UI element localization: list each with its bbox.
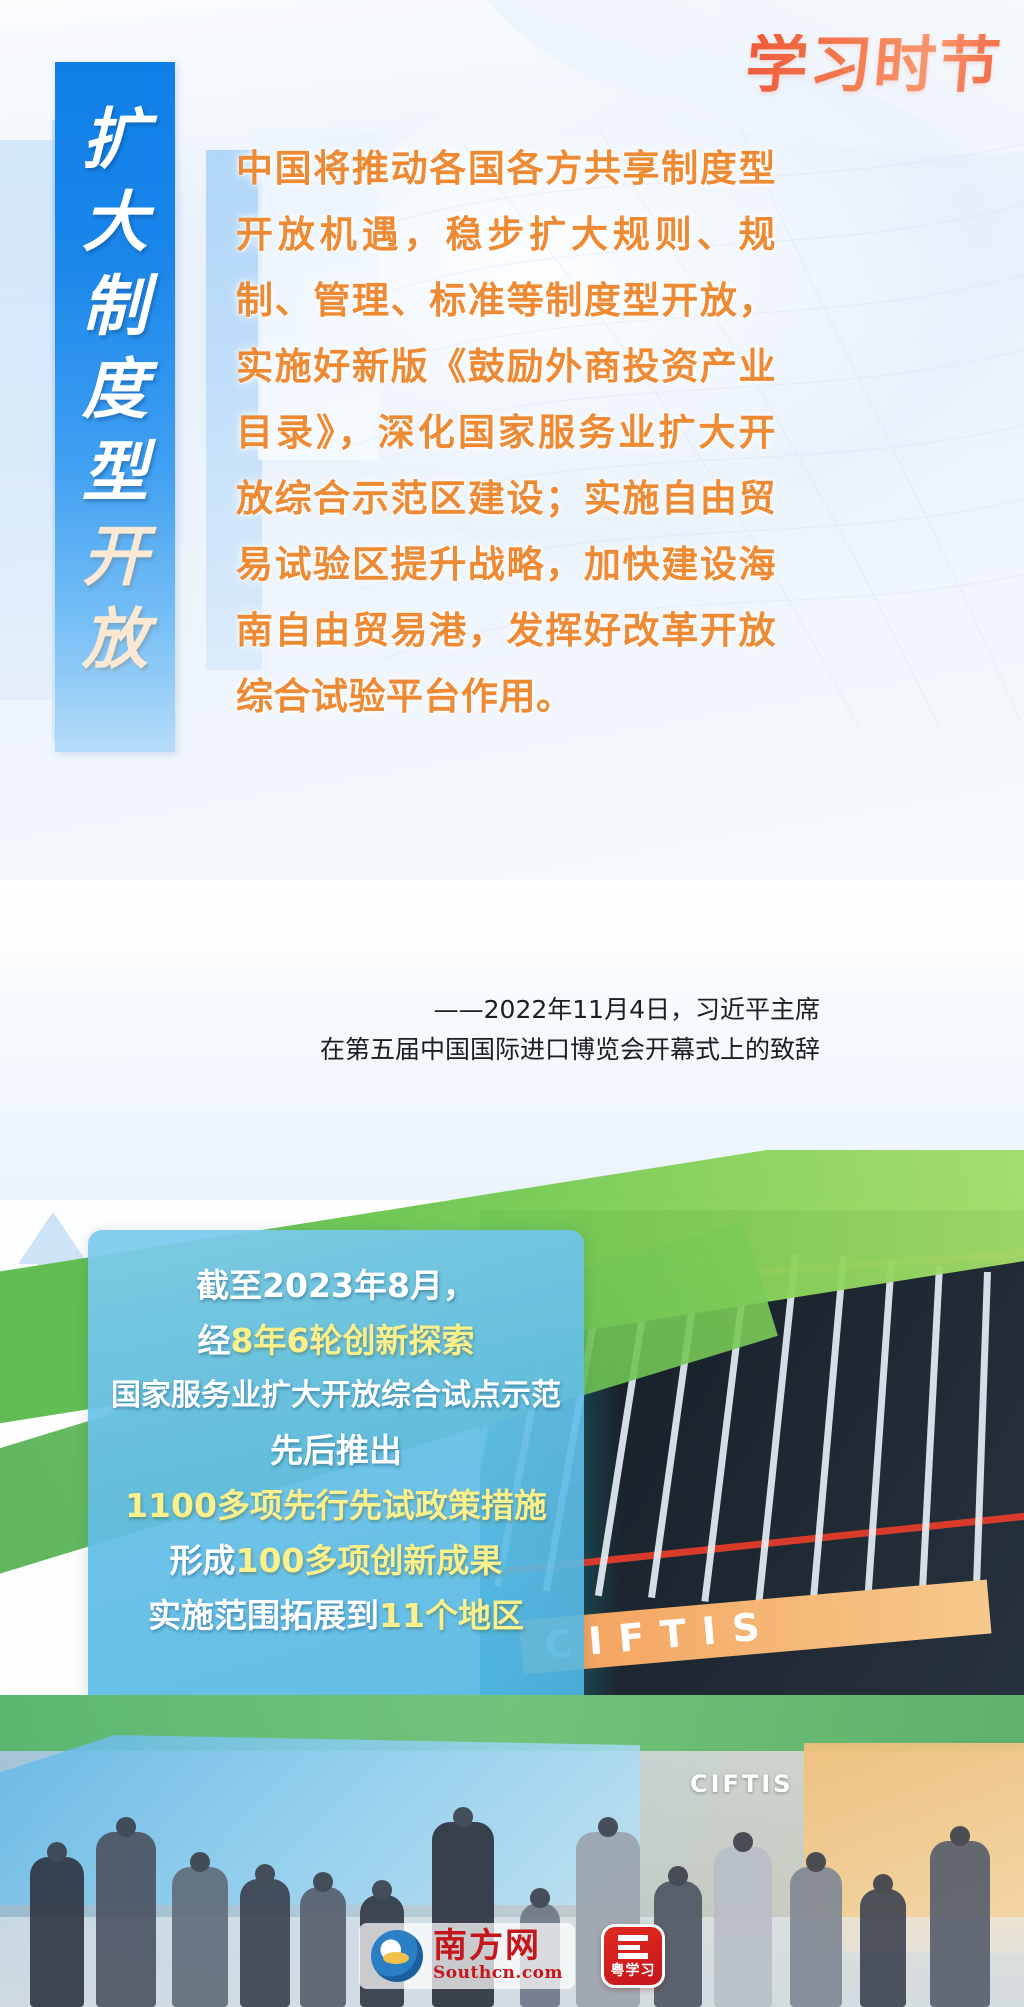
southcn-wordmark: 南方网 Southcn.com xyxy=(433,1929,563,1983)
person-head xyxy=(598,1817,618,1837)
person-head xyxy=(190,1852,210,1872)
person-head xyxy=(668,1866,688,1886)
person-head xyxy=(313,1872,333,1892)
quote-block: 中国将推动各国各方共享制度型开放机遇，稳步扩大规则、规制、管理、标准等制度型开放… xyxy=(236,136,776,730)
quote-text: 中国将推动各国各方共享制度型开放机遇，稳步扩大规则、规制、管理、标准等制度型开放… xyxy=(236,136,776,730)
person-head xyxy=(733,1832,753,1852)
quote-attribution: ——2022年11月4日，习近平主席 在第五届中国国际进口博览会开幕式上的致辞 xyxy=(180,990,820,1070)
brand-title: 学习时节 xyxy=(743,34,1004,96)
statistics-card: 截至2023年8月， 经8年6轮创新探索 国家服务业扩大开放综合试点示范 先后推… xyxy=(88,1230,584,1710)
southcn-domain: Southcn.com xyxy=(433,1963,563,1983)
person-head xyxy=(806,1852,826,1872)
card-line-5: 1100多项先行先试政策措施 xyxy=(106,1478,566,1533)
card-line-6-highlight: 100多项创新成果 xyxy=(236,1541,503,1580)
card-line-7-prefix: 实施范围拓展到 xyxy=(148,1596,379,1635)
banner-char-7: 放 xyxy=(82,606,148,673)
attribution-line-2: 在第五届中国国际进口博览会开幕式上的致辞 xyxy=(180,1030,820,1070)
person-head xyxy=(950,1826,970,1846)
card-line-4: 先后推出 xyxy=(106,1423,566,1478)
card-line-1-text: 截至2023年8月， xyxy=(196,1266,476,1305)
person-head xyxy=(372,1880,392,1900)
banner-char-6: 开 xyxy=(82,523,148,590)
banner-char-3: 制 xyxy=(82,273,148,340)
card-line-6: 形成100多项创新成果 xyxy=(106,1533,566,1588)
card-line-4-text: 先后推出 xyxy=(270,1431,402,1470)
card-line-3-text: 国家服务业扩大开放综合试点示范 xyxy=(111,1378,561,1413)
ceiling-beam xyxy=(810,1256,847,1600)
southcn-logo[interactable]: 南方网 Southcn.com xyxy=(359,1923,575,1989)
card-line-5-highlight: 1100多项先行先试政策措施 xyxy=(125,1486,547,1525)
southcn-chinese-name: 南方网 xyxy=(433,1926,541,1966)
footer-logos: 南方网 Southcn.com 粤学习 xyxy=(0,1923,1024,1989)
yuexuexi-logo[interactable]: 粤学习 xyxy=(601,1924,665,1988)
yuexuexi-label: 粤学习 xyxy=(611,1960,656,1980)
card-line-2-prefix: 经 xyxy=(198,1321,231,1360)
card-line-6-prefix: 形成 xyxy=(170,1541,236,1580)
person-head xyxy=(255,1864,275,1884)
ceiling-beam xyxy=(864,1260,895,1600)
card-line-2: 经8年6轮创新探索 xyxy=(106,1313,566,1368)
poster-root: 学习时节 扩 大 制 度 型 开 放 中国将推动各国各方共享制度型开放机遇，稳步… xyxy=(0,0,1024,2007)
card-line-1: 截至2023年8月， xyxy=(106,1258,566,1313)
banner-char-5: 型 xyxy=(82,439,148,506)
person-head xyxy=(530,1888,550,1908)
person-head xyxy=(47,1842,67,1862)
person-head xyxy=(116,1817,136,1837)
southcn-mark-icon xyxy=(371,1930,423,1982)
ciftis-sign-text: CIFTIS xyxy=(690,1770,794,1798)
banner-char-2: 大 xyxy=(82,189,148,256)
person-head xyxy=(873,1874,893,1894)
card-line-7-highlight: 11个地区 xyxy=(379,1596,524,1635)
lower-section: CIFTIS 截至2023年8月， 经8年6轮创新探索 国家服务业扩大开放综合试… xyxy=(0,1150,1024,2007)
banner-char-1: 扩 xyxy=(82,106,148,173)
yuexuexi-mark-icon xyxy=(618,1935,648,1959)
vertical-title-banner: 扩 大 制 度 型 开 放 xyxy=(55,62,175,752)
banner-char-4: 度 xyxy=(82,356,148,423)
ceiling-beam xyxy=(973,1272,991,1592)
exhibition-crowd-photo: CIFTIS 南方网 Southcn.com xyxy=(0,1695,1024,2007)
card-line-2-highlight: 8年6轮创新探索 xyxy=(231,1321,475,1360)
ceiling-beam xyxy=(919,1266,943,1596)
person-head xyxy=(453,1807,473,1827)
background-panel-1 xyxy=(0,140,60,700)
attribution-line-1: ——2022年11月4日，习近平主席 xyxy=(180,990,820,1030)
card-line-7: 实施范围拓展到11个地区 xyxy=(106,1588,566,1643)
card-line-3: 国家服务业扩大开放综合试点示范 xyxy=(106,1368,566,1423)
